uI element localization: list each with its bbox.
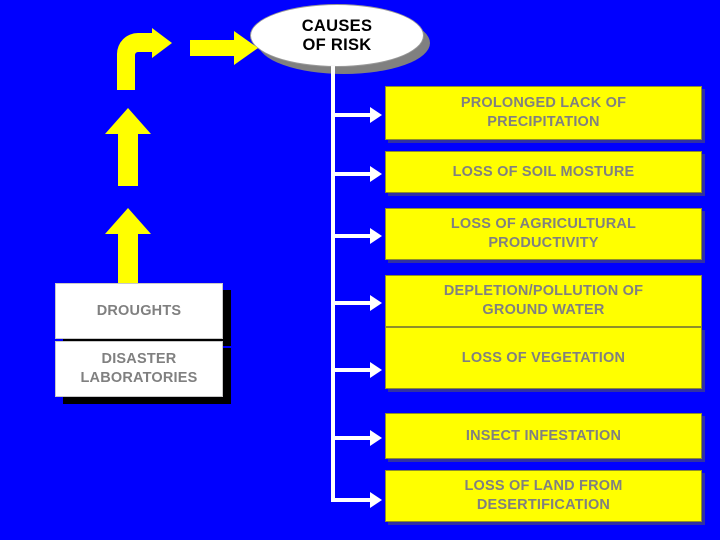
cause-box-vegetation[interactable]: LOSS OF VEGETATION: [385, 327, 702, 389]
cause-box-insect-infestation-line-1: INSECT INFESTATION: [466, 427, 621, 446]
slide-canvas: CAUSES OF RISK DROUGHTS DISASTER LABORAT…: [0, 0, 720, 540]
connector-branch-6: [333, 436, 373, 440]
causes-of-risk-ellipse[interactable]: CAUSES OF RISK: [250, 4, 424, 67]
connector-branch-7: [333, 498, 373, 502]
connector-branch-2: [333, 172, 373, 176]
cause-box-agricultural-line-1: LOSS OF AGRICULTURAL: [451, 215, 636, 234]
ellipse-line-2: OF RISK: [302, 36, 371, 55]
disaster-laboratories-line-1: DISASTER: [102, 350, 177, 369]
cause-box-precipitation-line-1: PROLONGED LACK OF: [461, 94, 626, 113]
cause-box-insect-infestation[interactable]: INSECT INFESTATION: [385, 413, 702, 459]
connector-branch-1: [333, 113, 373, 117]
ellipse-line-1: CAUSES: [302, 17, 373, 36]
connector-arrowhead-4: [370, 295, 382, 311]
cause-box-desertification-line-1: LOSS OF LAND FROM: [464, 477, 622, 496]
up-arrow-lower: [104, 208, 152, 286]
right-arrow-to-ellipse: [190, 31, 258, 65]
cause-box-ground-water[interactable]: DEPLETION/POLLUTION OF GROUND WATER: [385, 275, 702, 327]
connector-arrowhead-1: [370, 107, 382, 123]
cause-box-agricultural-productivity[interactable]: LOSS OF AGRICULTURAL PRODUCTIVITY: [385, 208, 702, 260]
droughts-box-label: DROUGHTS: [97, 302, 182, 321]
cause-box-desertification[interactable]: LOSS OF LAND FROM DESERTIFICATION: [385, 470, 702, 522]
connector-arrowhead-6: [370, 430, 382, 446]
cause-box-ground-water-line-1: DEPLETION/POLLUTION OF: [444, 282, 643, 301]
disaster-laboratories-box[interactable]: DISASTER LABORATORIES: [55, 341, 223, 397]
connector-branch-3: [333, 234, 373, 238]
cause-box-precipitation-line-2: PRECIPITATION: [487, 113, 599, 132]
connector-branch-5: [333, 368, 373, 372]
connector-arrowhead-3: [370, 228, 382, 244]
cause-box-soil-mosture-line-1: LOSS OF SOIL MOSTURE: [453, 163, 635, 182]
cause-box-precipitation[interactable]: PROLONGED LACK OF PRECIPITATION: [385, 86, 702, 140]
connector-arrowhead-7: [370, 492, 382, 508]
connector-arrowhead-2: [370, 166, 382, 182]
cause-box-soil-mosture[interactable]: LOSS OF SOIL MOSTURE: [385, 151, 702, 193]
droughts-box[interactable]: DROUGHTS: [55, 283, 223, 339]
cause-box-vegetation-line-1: LOSS OF VEGETATION: [462, 349, 625, 368]
disaster-laboratories-line-2: LABORATORIES: [80, 369, 197, 388]
bent-arrow-up-right-icon: [112, 28, 174, 90]
connector-branch-4: [333, 301, 373, 305]
cause-box-ground-water-line-2: GROUND WATER: [482, 301, 604, 320]
cause-box-agricultural-line-2: PRODUCTIVITY: [488, 234, 598, 253]
connector-arrowhead-5: [370, 362, 382, 378]
cause-box-desertification-line-2: DESERTIFICATION: [477, 496, 610, 515]
up-arrow-upper: [104, 108, 152, 186]
